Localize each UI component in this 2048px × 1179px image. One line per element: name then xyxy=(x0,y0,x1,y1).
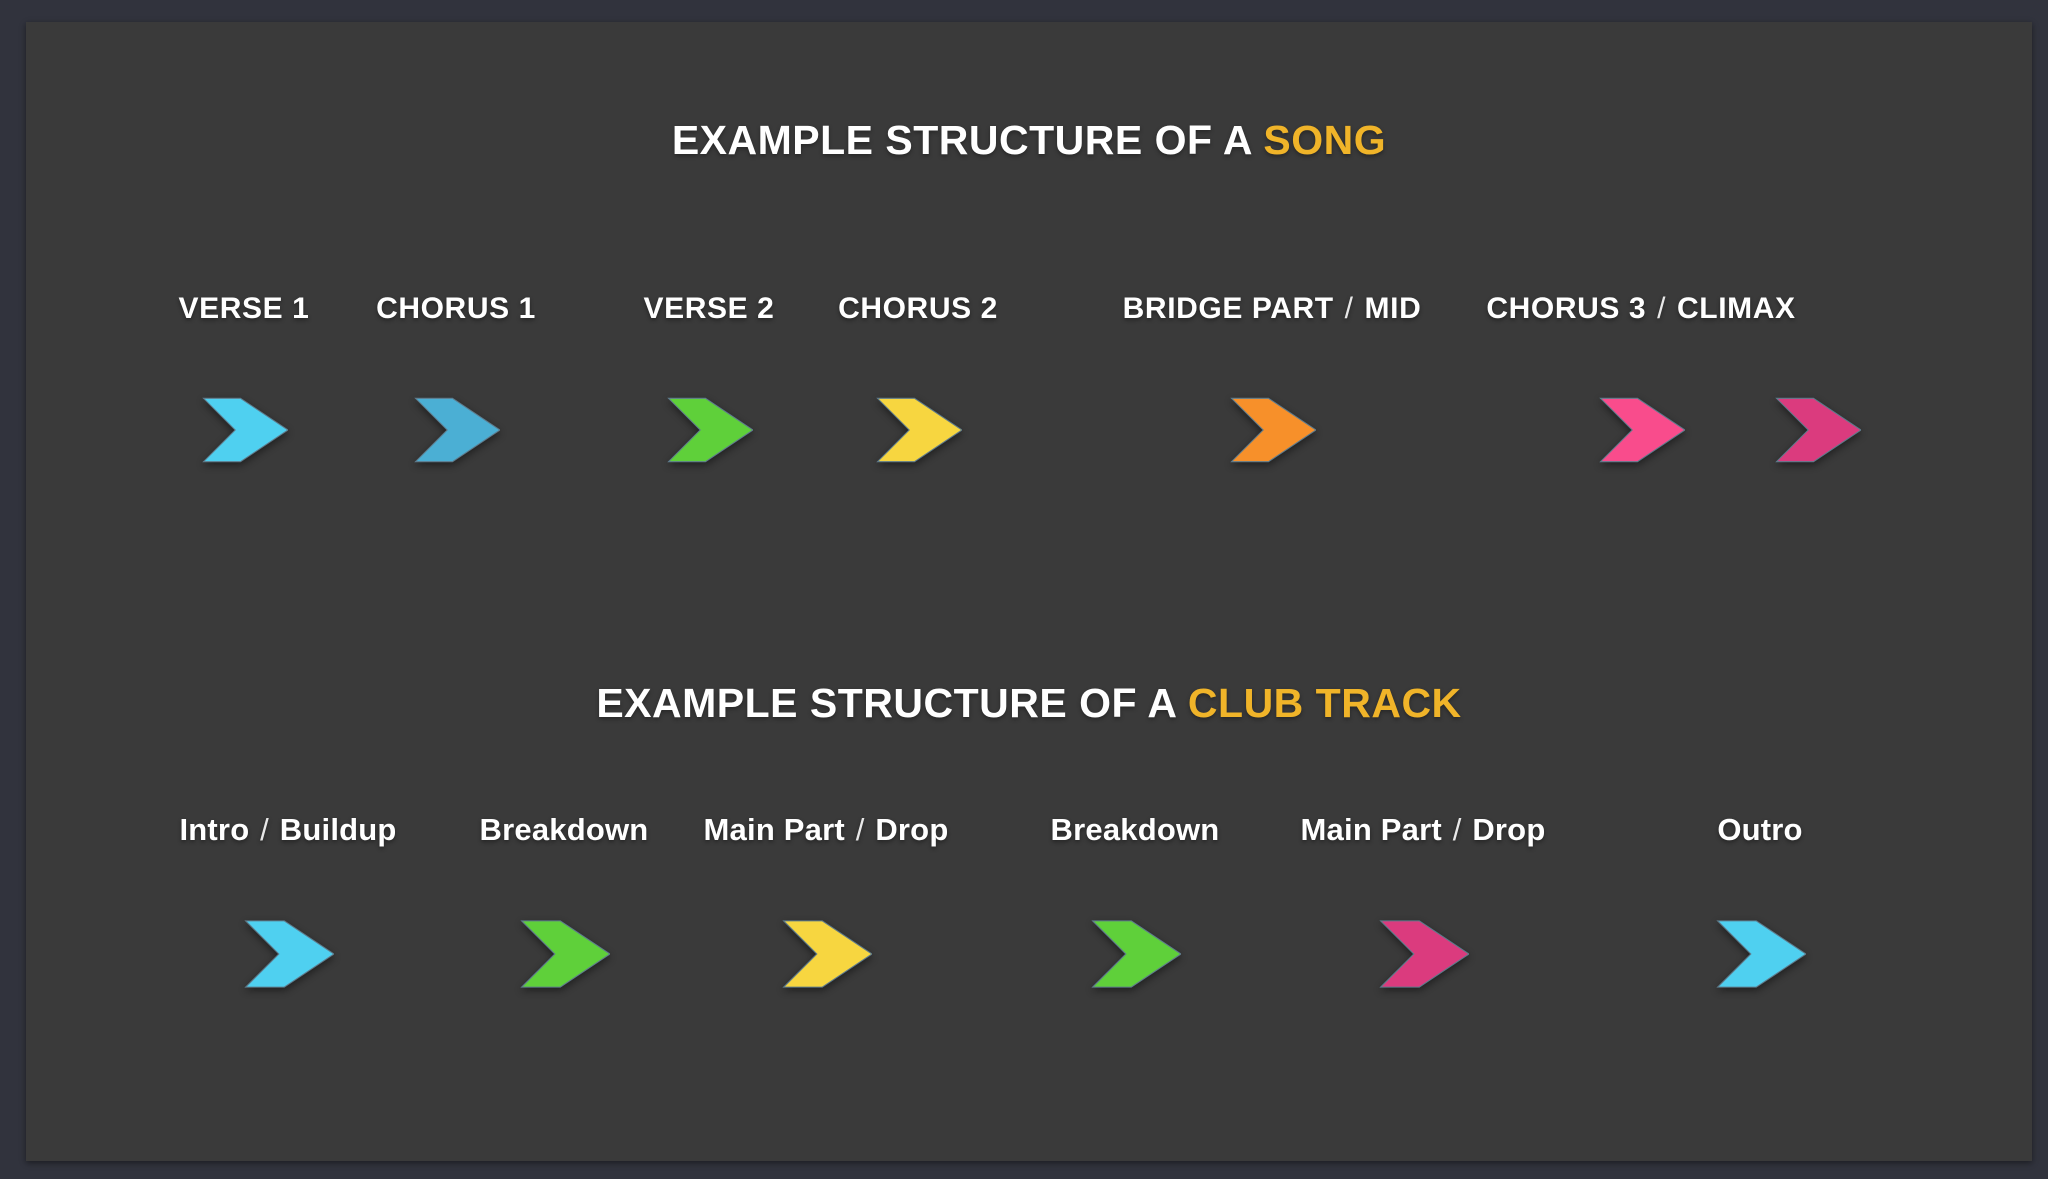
segment-arrow[interactable] xyxy=(412,397,500,463)
segment-arrow[interactable] xyxy=(1089,920,1181,988)
segment-arrow[interactable] xyxy=(1377,920,1469,988)
chevron-right-icon xyxy=(518,920,610,988)
chevron-right-icon xyxy=(665,397,753,463)
structure-row-club: Intro / BuildupBreakdownMain Part / Drop… xyxy=(26,812,2032,1072)
slide-canvas: EXAMPLE STRUCTURE OF A SONG VERSE 1CHORU… xyxy=(26,22,2032,1161)
segment-label: CHORUS 2 xyxy=(838,292,998,326)
segment-label: Outro xyxy=(1717,812,1802,848)
segment-arrow[interactable] xyxy=(1597,397,1685,463)
segment-label-main: BRIDGE PART xyxy=(1123,292,1334,325)
chevron-right-icon xyxy=(1228,397,1316,463)
section-title-club: EXAMPLE STRUCTURE OF A CLUB TRACK xyxy=(26,680,2032,727)
segment-arrow[interactable] xyxy=(780,920,872,988)
segment-label-main: Outro xyxy=(1717,812,1802,847)
section-title-song-accent: SONG xyxy=(1263,117,1386,163)
segment-label-main: CHORUS 2 xyxy=(838,292,998,325)
chevron-right-icon xyxy=(1714,920,1806,988)
segment-label-alt: CLIMAX xyxy=(1677,292,1796,325)
segment-label: CHORUS 1 xyxy=(376,292,536,326)
chevron-right-icon xyxy=(874,397,962,463)
segment-label-main: CHORUS 3 xyxy=(1486,292,1646,325)
segment-label-separator: / xyxy=(1646,292,1677,325)
chevron-right-icon xyxy=(1597,397,1685,463)
chevron-right-icon xyxy=(1089,920,1181,988)
segment-label-separator: / xyxy=(249,812,279,847)
chevron-right-icon xyxy=(1773,397,1861,463)
chevron-right-icon xyxy=(780,920,872,988)
section-title-club-prefix: EXAMPLE STRUCTURE OF A xyxy=(596,680,1188,726)
segment-arrow[interactable] xyxy=(1228,397,1316,463)
segment-label: CHORUS 3 / CLIMAX xyxy=(1486,292,1795,326)
segment-arrow[interactable] xyxy=(242,920,334,988)
section-title-song-prefix: EXAMPLE STRUCTURE OF A xyxy=(672,117,1264,163)
segment-label-main: Breakdown xyxy=(480,812,649,847)
segment-label-alt: Drop xyxy=(1472,812,1545,847)
segment-label: VERSE 2 xyxy=(644,292,775,326)
section-title-song: EXAMPLE STRUCTURE OF A SONG xyxy=(26,117,2032,164)
segment-arrow[interactable] xyxy=(1773,397,1861,463)
segment-arrow[interactable] xyxy=(518,920,610,988)
segment-label-main: Intro xyxy=(179,812,249,847)
segment-label: Main Part / Drop xyxy=(1301,812,1546,848)
chevron-right-icon xyxy=(412,397,500,463)
segment-label-alt: Drop xyxy=(875,812,948,847)
section-title-club-accent: CLUB TRACK xyxy=(1188,680,1462,726)
segment-label-separator: / xyxy=(1442,812,1472,847)
segment-label: BRIDGE PART / MID xyxy=(1123,292,1422,326)
segment-arrow[interactable] xyxy=(1714,920,1806,988)
segment-label: Breakdown xyxy=(1051,812,1220,848)
segment-label-alt: Buildup xyxy=(280,812,397,847)
segment-label: Main Part / Drop xyxy=(704,812,949,848)
segment-arrow[interactable] xyxy=(200,397,288,463)
segment-label-separator: / xyxy=(845,812,875,847)
segment-label-main: CHORUS 1 xyxy=(376,292,536,325)
segment-arrow[interactable] xyxy=(874,397,962,463)
segment-label-main: VERSE 2 xyxy=(644,292,775,325)
chevron-right-icon xyxy=(1377,920,1469,988)
chevron-right-icon xyxy=(200,397,288,463)
segment-label-main: Main Part xyxy=(1301,812,1442,847)
segment-label: Breakdown xyxy=(480,812,649,848)
segment-label-main: VERSE 1 xyxy=(179,292,310,325)
segment-label-alt: MID xyxy=(1365,292,1422,325)
segment-label-main: Main Part xyxy=(704,812,845,847)
chevron-right-icon xyxy=(242,920,334,988)
segment-label-separator: / xyxy=(1334,292,1365,325)
segment-arrow[interactable] xyxy=(665,397,753,463)
structure-row-song: VERSE 1CHORUS 1VERSE 2CHORUS 2BRIDGE PAR… xyxy=(26,292,2032,552)
segment-label: Intro / Buildup xyxy=(179,812,396,848)
segment-label-main: Breakdown xyxy=(1051,812,1220,847)
segment-label: VERSE 1 xyxy=(179,292,310,326)
